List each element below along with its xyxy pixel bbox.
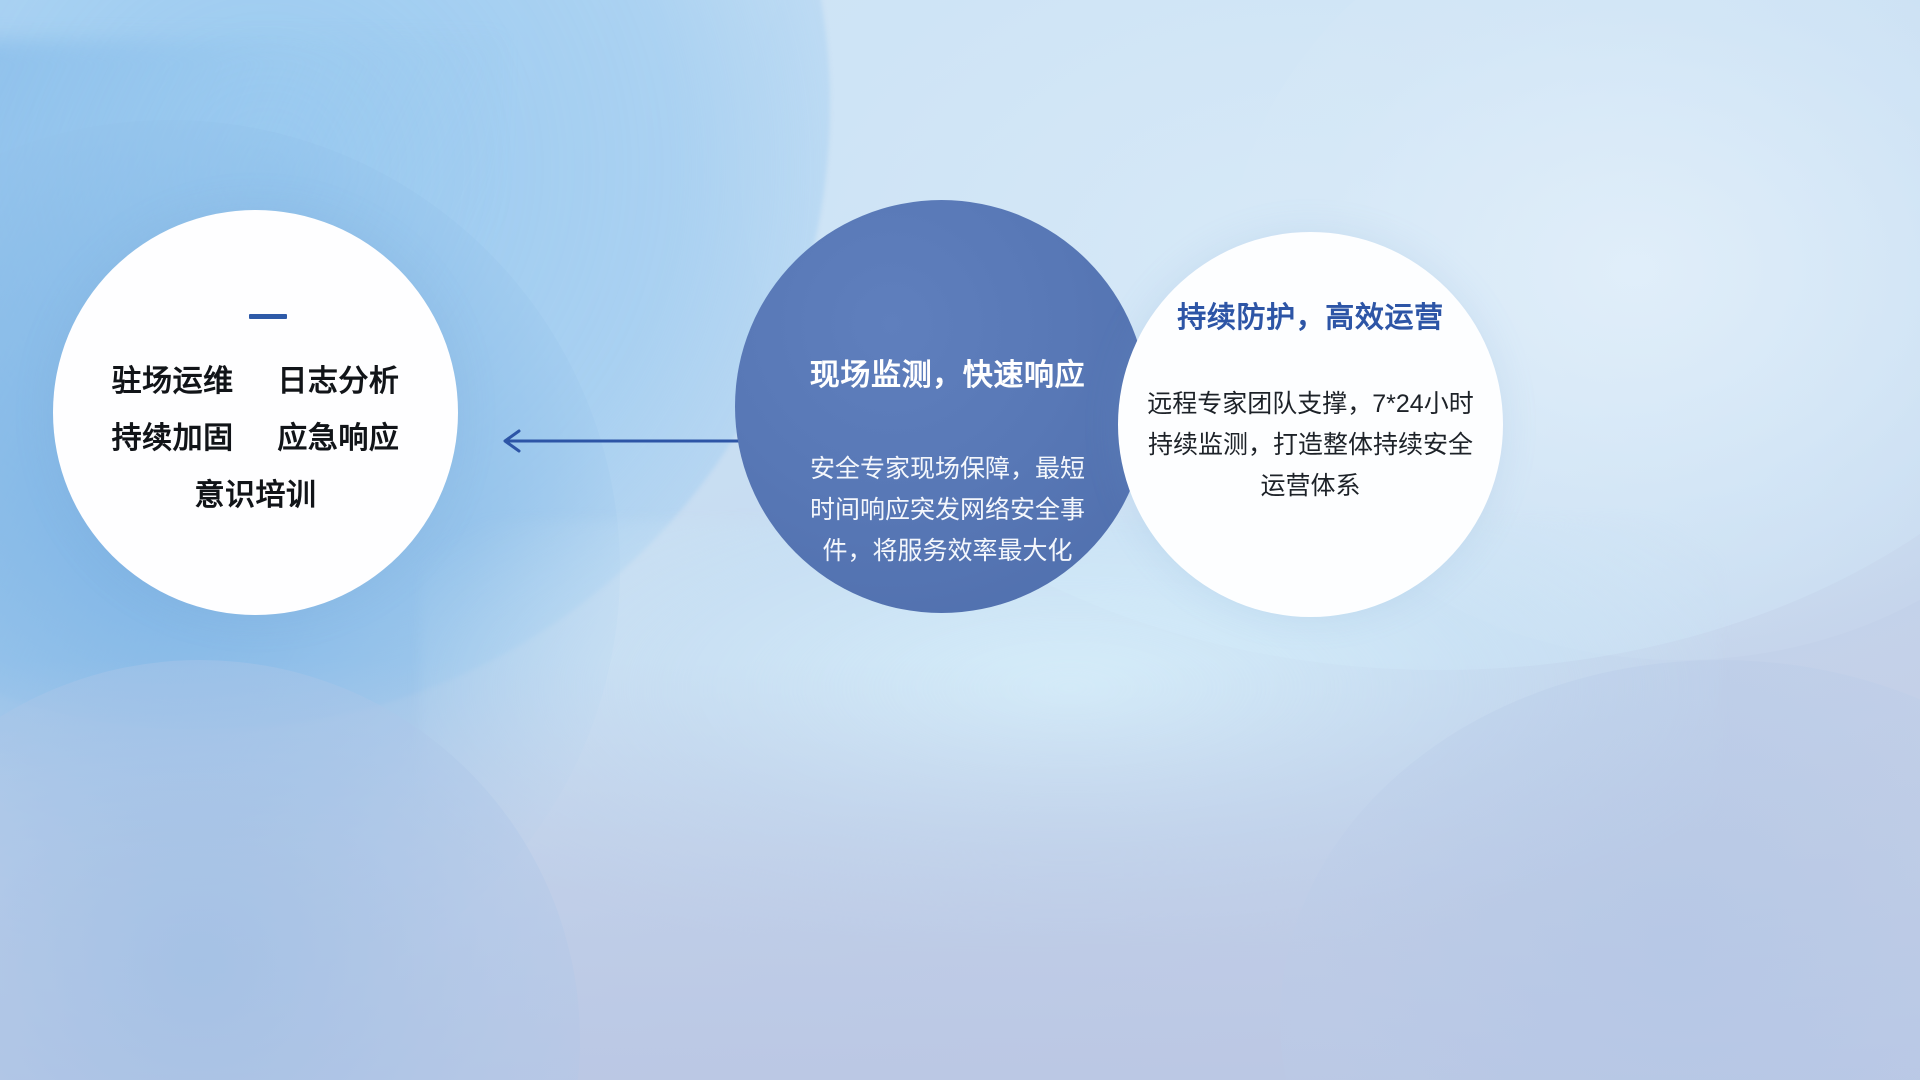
capability-row-1: 驻场运维 日志分析 bbox=[112, 367, 400, 397]
arrow-left-icon bbox=[492, 424, 772, 458]
connector-arrow bbox=[492, 424, 772, 458]
capability-label-log-analysis: 日志分析 bbox=[277, 365, 399, 398]
middle-circle-content: 现场监测，快速响应 安全专家现场保障，最短时间响应突发网络安全事件，将服务效率最… bbox=[735, 200, 1148, 613]
capability-label-emergency-response: 应急响应 bbox=[277, 422, 399, 455]
continuous-protection-description: 远程专家团队支撑，7*24小时持续监测，打造整体持续安全运营体系 bbox=[1146, 384, 1476, 506]
continuous-protection-circle[interactable]: 持续防护，高效运营 远程专家团队支撑，7*24小时持续监测，打造整体持续安全运营… bbox=[1118, 232, 1503, 617]
onsite-monitoring-circle[interactable]: 现场监测，快速响应 安全专家现场保障，最短时间响应突发网络安全事件，将服务效率最… bbox=[735, 200, 1148, 613]
service-capability-circle[interactable]: 驻场运维 日志分析 持续加固 应急响应 意识培训 bbox=[53, 210, 458, 615]
right-circle-content: 持续防护，高效运营 远程专家团队支撑，7*24小时持续监测，打造整体持续安全运营… bbox=[1118, 232, 1503, 617]
capability-row-3: 意识培训 bbox=[195, 481, 317, 511]
onsite-monitoring-description: 安全专家现场保障，最短时间响应突发网络安全事件，将服务效率最大化 bbox=[806, 449, 1090, 571]
left-circle-content: 驻场运维 日志分析 持续加固 应急响应 意识培训 bbox=[53, 210, 458, 615]
onsite-monitoring-title: 现场监测，快速响应 bbox=[810, 350, 1085, 394]
continuous-protection-title: 持续防护，高效运营 bbox=[1177, 294, 1443, 336]
dash-divider-icon bbox=[249, 314, 287, 319]
capability-label-continuous-hardening: 持续加固 bbox=[112, 422, 234, 455]
capability-label-onsite-ops: 驻场运维 bbox=[112, 365, 234, 398]
capability-label-awareness-training: 意识培训 bbox=[195, 479, 317, 512]
capability-row-2: 持续加固 应急响应 bbox=[112, 424, 400, 454]
